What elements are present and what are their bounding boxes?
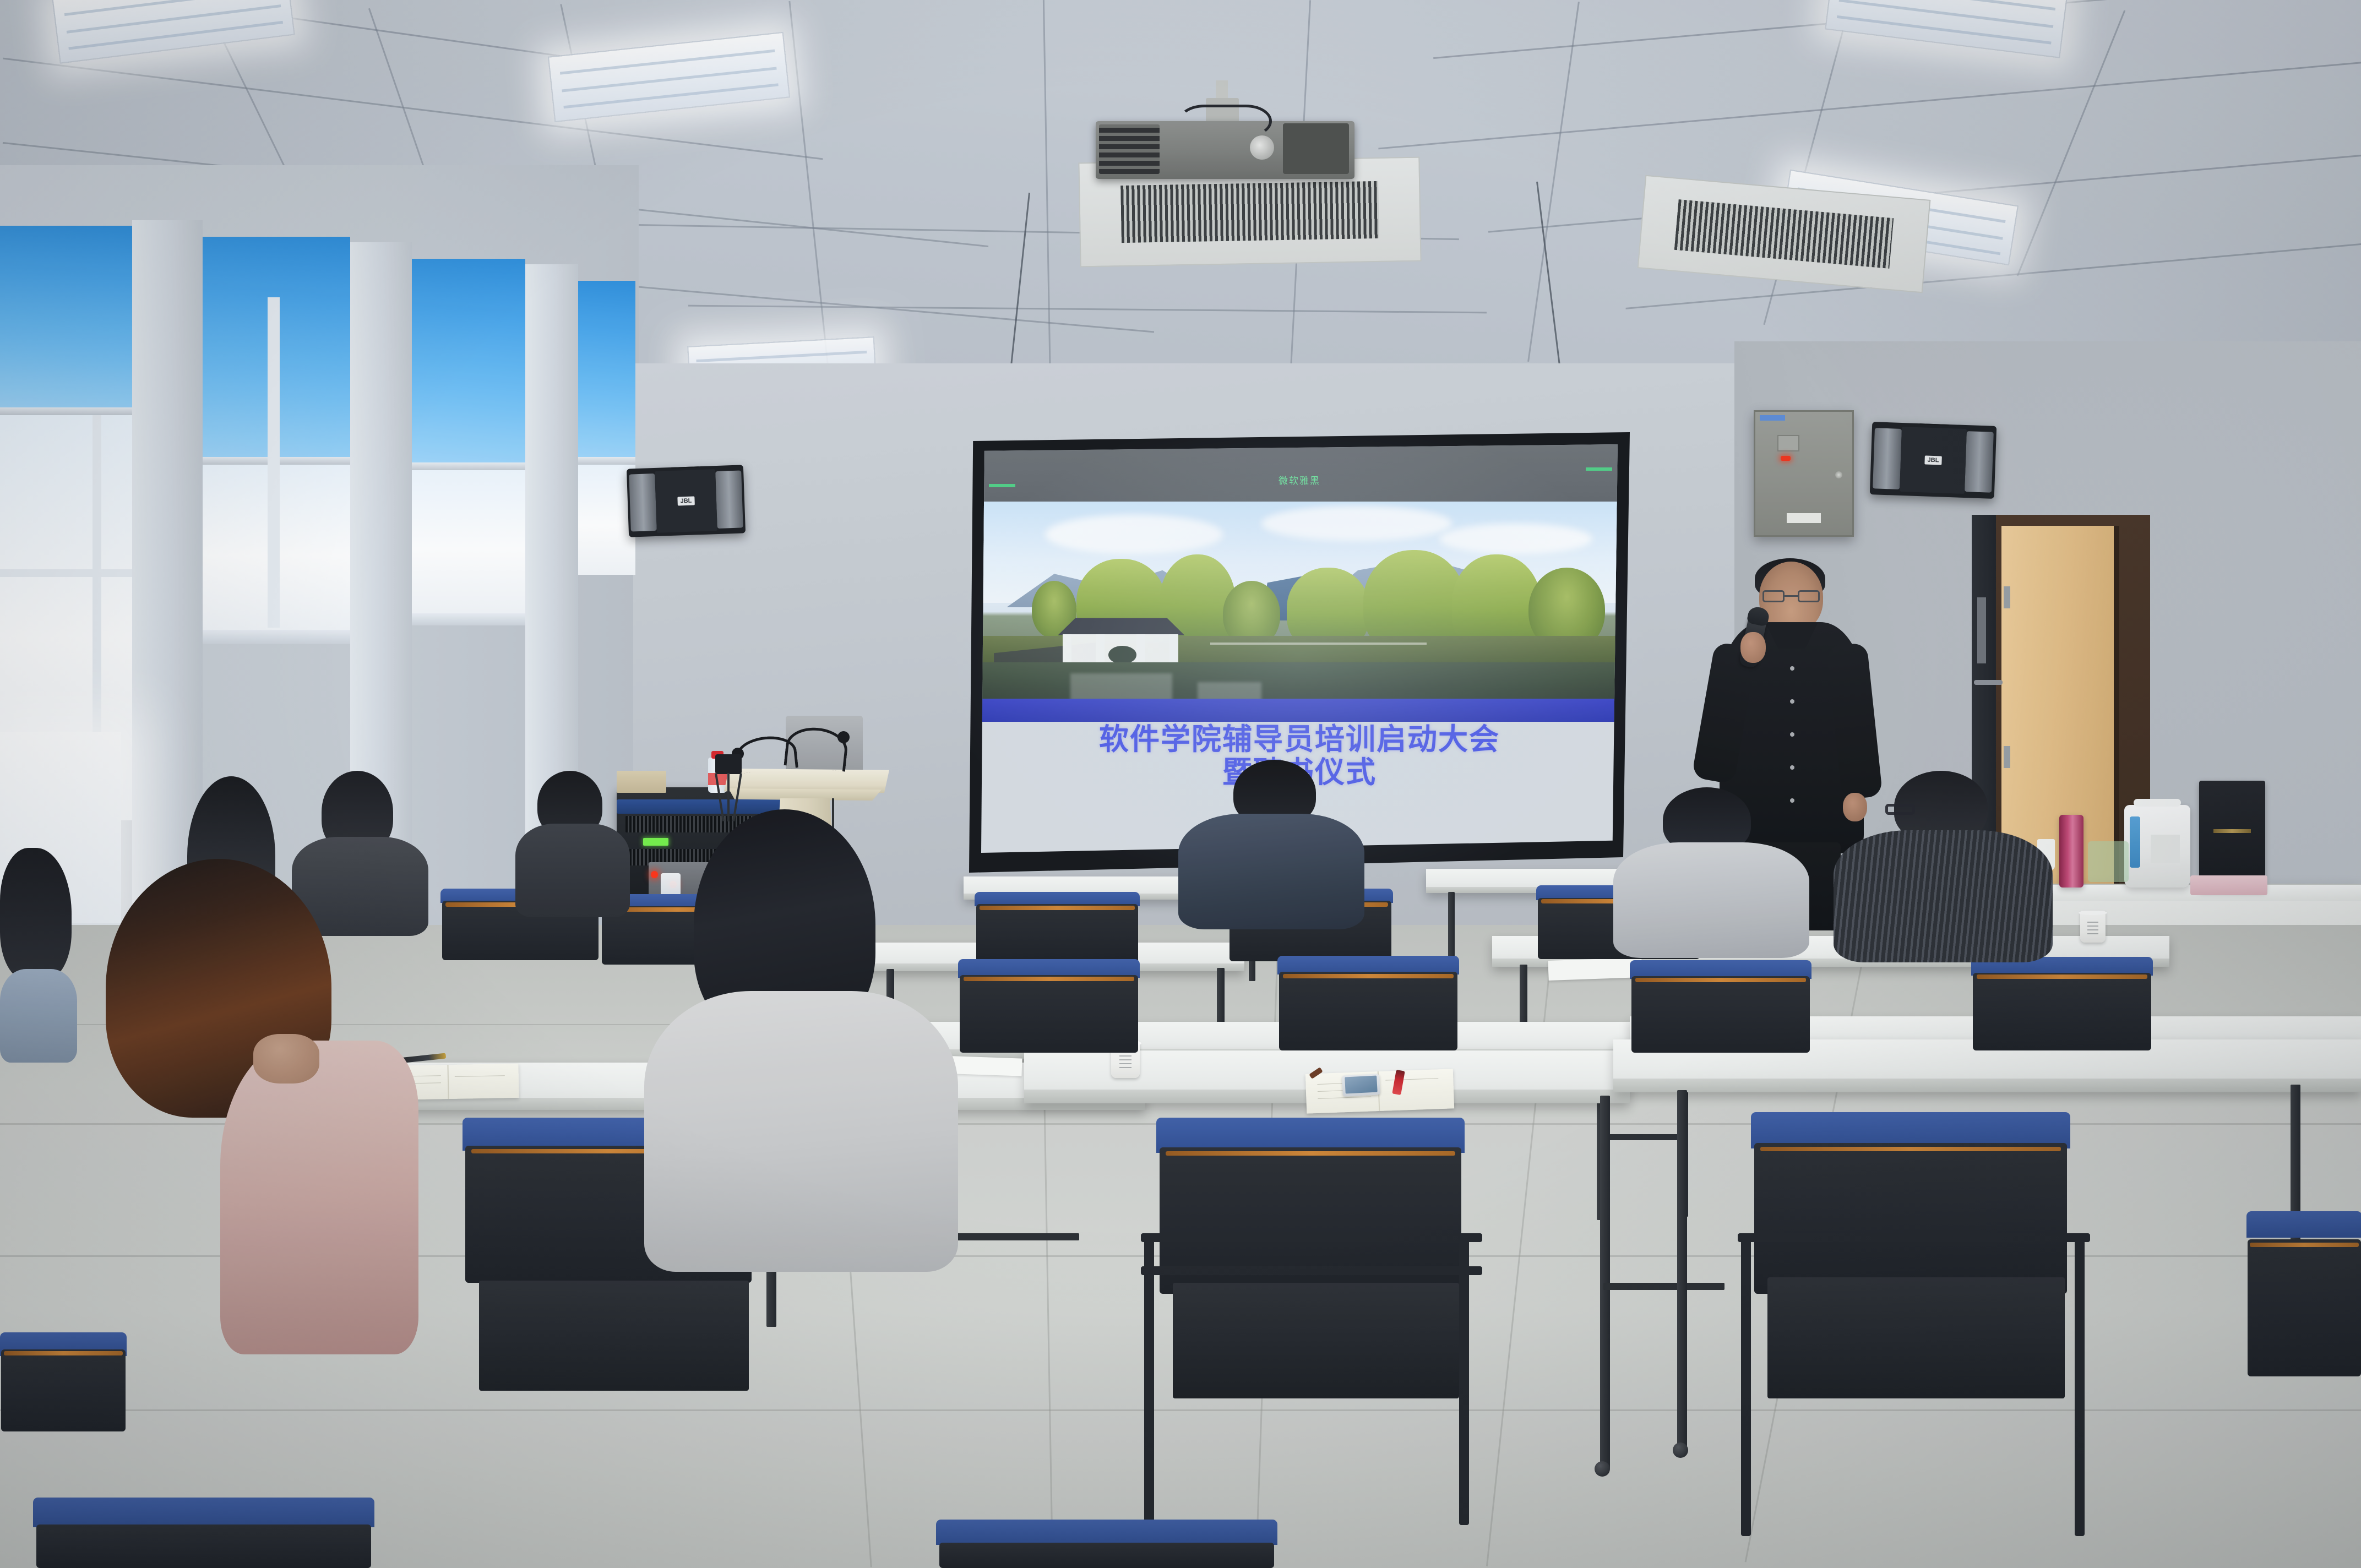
roller-blind[interactable] xyxy=(578,281,635,457)
attendee-right-pinstripe xyxy=(1834,771,2054,958)
chair-frame xyxy=(1738,1233,2090,1242)
chair-frame xyxy=(2075,1239,2085,1536)
door-hinge-icon xyxy=(2004,746,2010,768)
microphone-head-icon xyxy=(837,731,850,743)
panel-lock-icon[interactable] xyxy=(1835,471,1842,478)
table-crossbar xyxy=(1600,1134,1683,1140)
ceiling-projector-icon xyxy=(1096,105,1382,209)
chair-seat[interactable] xyxy=(479,1281,749,1391)
slide-photo xyxy=(981,502,1618,722)
roller-blind[interactable] xyxy=(0,226,132,407)
chair[interactable] xyxy=(958,959,1140,1053)
jbl-speaker-right: JBL xyxy=(1870,422,1996,499)
door-handle-icon[interactable] xyxy=(1974,680,2003,685)
presenter-hand xyxy=(1740,632,1766,663)
door-lock-plate-icon[interactable] xyxy=(1977,597,1986,663)
fluorescent-troffer-icon xyxy=(52,0,295,64)
roller-blind[interactable] xyxy=(412,259,525,462)
chair[interactable] xyxy=(936,1520,1277,1568)
attendee-right-gray-hoodie xyxy=(1613,787,1811,952)
classroom-photo-scene: 微软雅黑 xyxy=(0,0,2361,1568)
attendee-left-far-dark xyxy=(512,771,633,914)
glasses-icon xyxy=(1762,590,1820,602)
table-leg xyxy=(1677,1090,1687,1453)
chair-frame xyxy=(1459,1239,1469,1525)
attendee-edge-left xyxy=(0,848,77,1057)
door-hinge-icon xyxy=(2004,586,2010,608)
table-caster-icon xyxy=(1595,1461,1610,1477)
panel-indicator-led-icon xyxy=(1781,456,1791,461)
fluorescent-troffer-icon xyxy=(548,32,790,122)
attendee-center-gray-sweater xyxy=(628,809,969,1272)
document-sheet[interactable] xyxy=(1548,957,1642,981)
pink-cloth xyxy=(2190,875,2267,895)
fluorescent-troffer-icon xyxy=(1825,0,2068,58)
electrical-distribution-panel[interactable] xyxy=(1754,410,1854,537)
window-bay-1 xyxy=(0,226,132,820)
table-caster-icon xyxy=(1673,1442,1688,1458)
registration-mark-right-icon xyxy=(1586,467,1612,471)
chair[interactable] xyxy=(1630,960,1811,1053)
plastic-bag-on-cabinet xyxy=(2088,841,2129,882)
window-glass xyxy=(412,470,525,613)
attendee-torso xyxy=(644,991,958,1272)
chair-frame xyxy=(1144,1239,1154,1525)
chair[interactable] xyxy=(33,1498,374,1568)
chair[interactable] xyxy=(1277,956,1459,1050)
window-bay-3 xyxy=(412,259,525,754)
slide-accent-bar xyxy=(981,699,1618,722)
panel-window xyxy=(1777,435,1799,451)
chair[interactable] xyxy=(1971,957,2153,1050)
chair-seat[interactable] xyxy=(1173,1283,1459,1398)
smartphone[interactable] xyxy=(1342,1074,1380,1097)
attendee-center-navy-jacket xyxy=(1178,760,1366,925)
chair-seat[interactable] xyxy=(1767,1277,2065,1398)
chair[interactable] xyxy=(975,892,1140,963)
chair[interactable] xyxy=(2246,1211,2361,1376)
chair-frame xyxy=(1141,1266,1482,1275)
camera-icon[interactable] xyxy=(715,754,742,774)
glasses-icon xyxy=(1885,804,1915,815)
paper-cup-right[interactable] xyxy=(2080,911,2106,943)
slide-title-line-1: 软件学院辅导员培训启动大会 xyxy=(981,723,1618,756)
panel-tag xyxy=(1760,415,1785,421)
electric-kettle[interactable] xyxy=(2124,805,2190,888)
chair[interactable] xyxy=(1751,1112,2070,1294)
attendee-neck xyxy=(253,1034,319,1084)
chair-frame xyxy=(1141,1233,1482,1242)
jbl-speaker-left: JBL xyxy=(627,465,746,537)
attendee-front-left-pink-coat xyxy=(77,859,418,1354)
slide-band-label: 微软雅黑 xyxy=(981,473,1618,487)
chair-frame xyxy=(1741,1239,1751,1536)
blind-bottom-bar[interactable] xyxy=(578,457,635,465)
speaker-brand-badge: JBL xyxy=(1924,455,1941,465)
black-bag[interactable] xyxy=(2199,781,2265,891)
slide-top-band: 微软雅黑 xyxy=(981,444,1618,506)
table-crossbar xyxy=(1603,1283,1724,1290)
blind-bottom-bar[interactable] xyxy=(412,462,525,470)
blind-bottom-bar[interactable] xyxy=(0,407,132,415)
window-bay-2 xyxy=(203,237,350,809)
attendee-torso xyxy=(220,1041,418,1354)
speaker-brand-badge: JBL xyxy=(677,496,694,505)
pink-thermos[interactable] xyxy=(2059,815,2083,888)
panel-label xyxy=(1787,513,1821,523)
